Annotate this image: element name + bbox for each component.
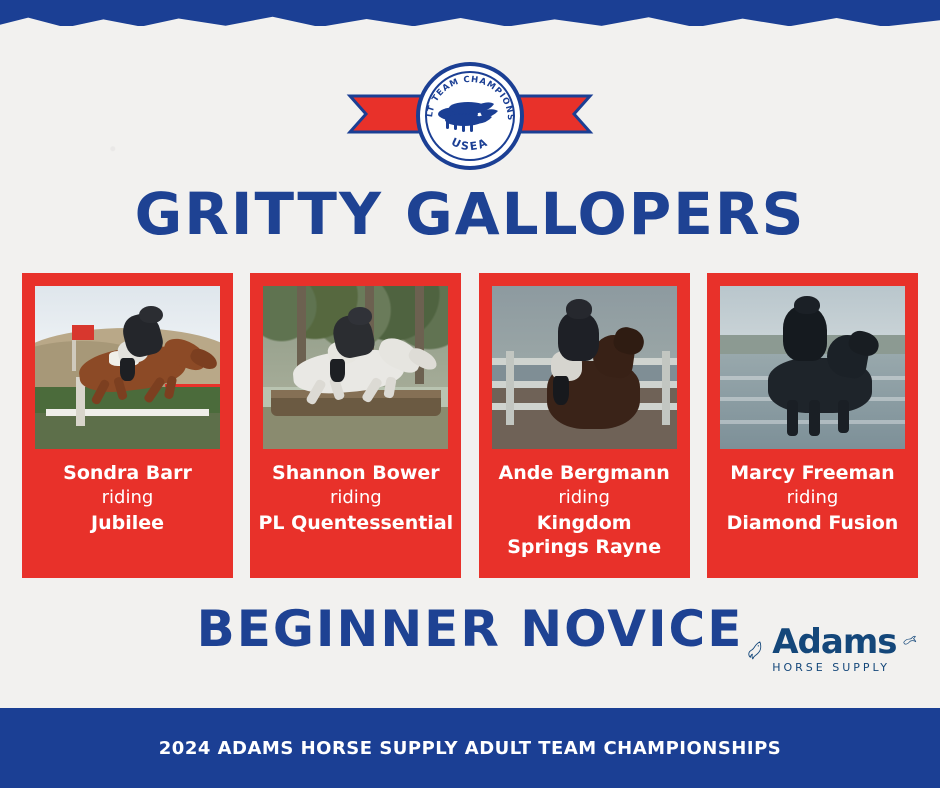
- rider-caption-4: Marcy Freeman riding Diamond Fusion: [707, 449, 918, 551]
- rider-card-4: Marcy Freeman riding Diamond Fusion: [707, 273, 918, 578]
- rider-photo-ande-bergmann: [492, 286, 677, 449]
- riding-connector: riding: [254, 485, 457, 511]
- rider-card-1: Sondra Barr riding Jubilee: [22, 273, 233, 578]
- rider-name: Marcy Freeman: [711, 461, 914, 485]
- sponsor-logo: Adams HORSE SUPPLY: [748, 625, 918, 691]
- usea-championship-logo: ADULT TEAM CHAMPIONSHIP USEA: [340, 62, 600, 172]
- rider-card-2: Shannon Bower riding PL Quentessential: [250, 273, 461, 578]
- horse-name-line2: Springs Rayne: [483, 535, 686, 559]
- rider-photo-shannon-bower: [263, 286, 448, 449]
- team-name: GRITTY GALLOPERS: [0, 180, 940, 248]
- rider-name: Sondra Barr: [26, 461, 229, 485]
- footer-text: 2024 ADAMS HORSE SUPPLY ADULT TEAM CHAMP…: [159, 738, 781, 759]
- horse-name: Jubilee: [26, 511, 229, 535]
- horse-name: PL Quentessential: [254, 511, 457, 535]
- horse-name: Diamond Fusion: [711, 511, 914, 535]
- rider-card-3: Ande Bergmann riding Kingdom Springs Ray…: [479, 273, 690, 578]
- sponsor-brand: Adams: [772, 625, 896, 659]
- horse-logo-icon: [748, 628, 766, 674]
- riding-connector: riding: [711, 485, 914, 511]
- horse-name-line1: Kingdom: [483, 511, 686, 535]
- rider-name: Shannon Bower: [254, 461, 457, 485]
- rider-caption-1: Sondra Barr riding Jubilee: [22, 449, 233, 551]
- rider-name: Ande Bergmann: [483, 461, 686, 485]
- poster: ADULT TEAM CHAMPIONSHIP USEA GRITTY GALL…: [0, 0, 940, 788]
- rider-cards: Sondra Barr riding Jubilee Shannon Bo: [22, 273, 918, 578]
- running-horse-icon: [903, 630, 919, 652]
- rider-photo-marcy-freeman: [720, 286, 905, 449]
- rider-caption-3: Ande Bergmann riding Kingdom Springs Ray…: [479, 449, 690, 575]
- sponsor-tagline: HORSE SUPPLY: [772, 661, 896, 674]
- rider-photo-sondra-barr: [35, 286, 220, 449]
- riding-connector: riding: [26, 485, 229, 511]
- footer-bar: 2024 ADAMS HORSE SUPPLY ADULT TEAM CHAMP…: [0, 708, 940, 788]
- riding-connector: riding: [483, 485, 686, 511]
- rider-caption-2: Shannon Bower riding PL Quentessential: [250, 449, 461, 551]
